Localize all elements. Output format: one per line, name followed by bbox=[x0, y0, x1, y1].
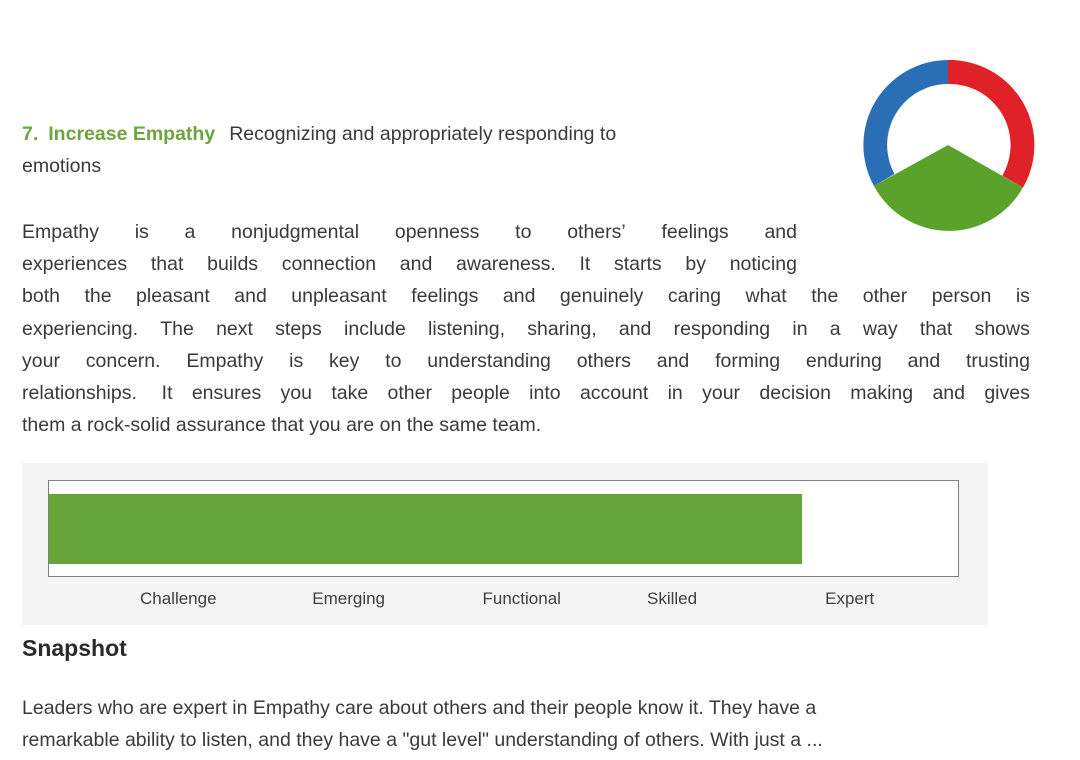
watermark-text bbox=[22, 60, 622, 78]
snapshot-heading: Snapshot bbox=[22, 635, 127, 662]
axis-label-functional: Functional bbox=[483, 589, 561, 609]
body-paragraph: Empathyisanonjudgmentalopennesstoothers’… bbox=[22, 216, 1030, 441]
snapshot-line-2: remarkable ability to listen, and they h… bbox=[22, 724, 1030, 756]
snapshot-bar-chart: Challenge Emerging Functional Skilled Ex… bbox=[22, 463, 988, 625]
snapshot-line-1: Leaders who are expert in Empathy care a… bbox=[22, 692, 1030, 724]
body-line-7: them a rock-solid assurance that you are… bbox=[22, 409, 1030, 441]
section-number: 7. bbox=[22, 123, 38, 145]
bar-track bbox=[49, 494, 958, 564]
section-subtitle-line1: Recognizing and appropriately responding… bbox=[229, 123, 616, 145]
axis-label-expert: Expert bbox=[825, 589, 874, 609]
body-line-1: Empathyisanonjudgmentalopennesstoothers’… bbox=[22, 216, 797, 248]
chart-axis-labels: Challenge Emerging Functional Skilled Ex… bbox=[48, 589, 959, 617]
body-line-3: boththepleasantandunpleasantfeelingsandg… bbox=[22, 280, 1030, 312]
body-line-4: experiencing.Thenextstepsincludelistenin… bbox=[22, 313, 1030, 345]
axis-label-emerging: Emerging bbox=[312, 589, 385, 609]
body-line-2: experiencesthatbuildsconnectionandawaren… bbox=[22, 248, 797, 280]
axis-label-skilled: Skilled bbox=[647, 589, 697, 609]
chart-plot-frame bbox=[48, 480, 959, 577]
section-title: Increase Empathy bbox=[48, 123, 215, 145]
document-page: 7.Increase EmpathyRecognizing and approp… bbox=[0, 0, 1080, 760]
snapshot-paragraph: Leaders who are expert in Empathy care a… bbox=[22, 692, 1030, 756]
body-line-5: yourconcern.Empathyiskeytounderstandingo… bbox=[22, 345, 1030, 377]
score-bar bbox=[49, 494, 802, 564]
section-subtitle-line2: emotions bbox=[22, 150, 802, 182]
body-line-6: relationships. Itensuresyoutakeotherpeop… bbox=[22, 377, 1030, 409]
section-heading: 7.Increase EmpathyRecognizing and approp… bbox=[22, 118, 802, 182]
axis-label-challenge: Challenge bbox=[140, 589, 217, 609]
